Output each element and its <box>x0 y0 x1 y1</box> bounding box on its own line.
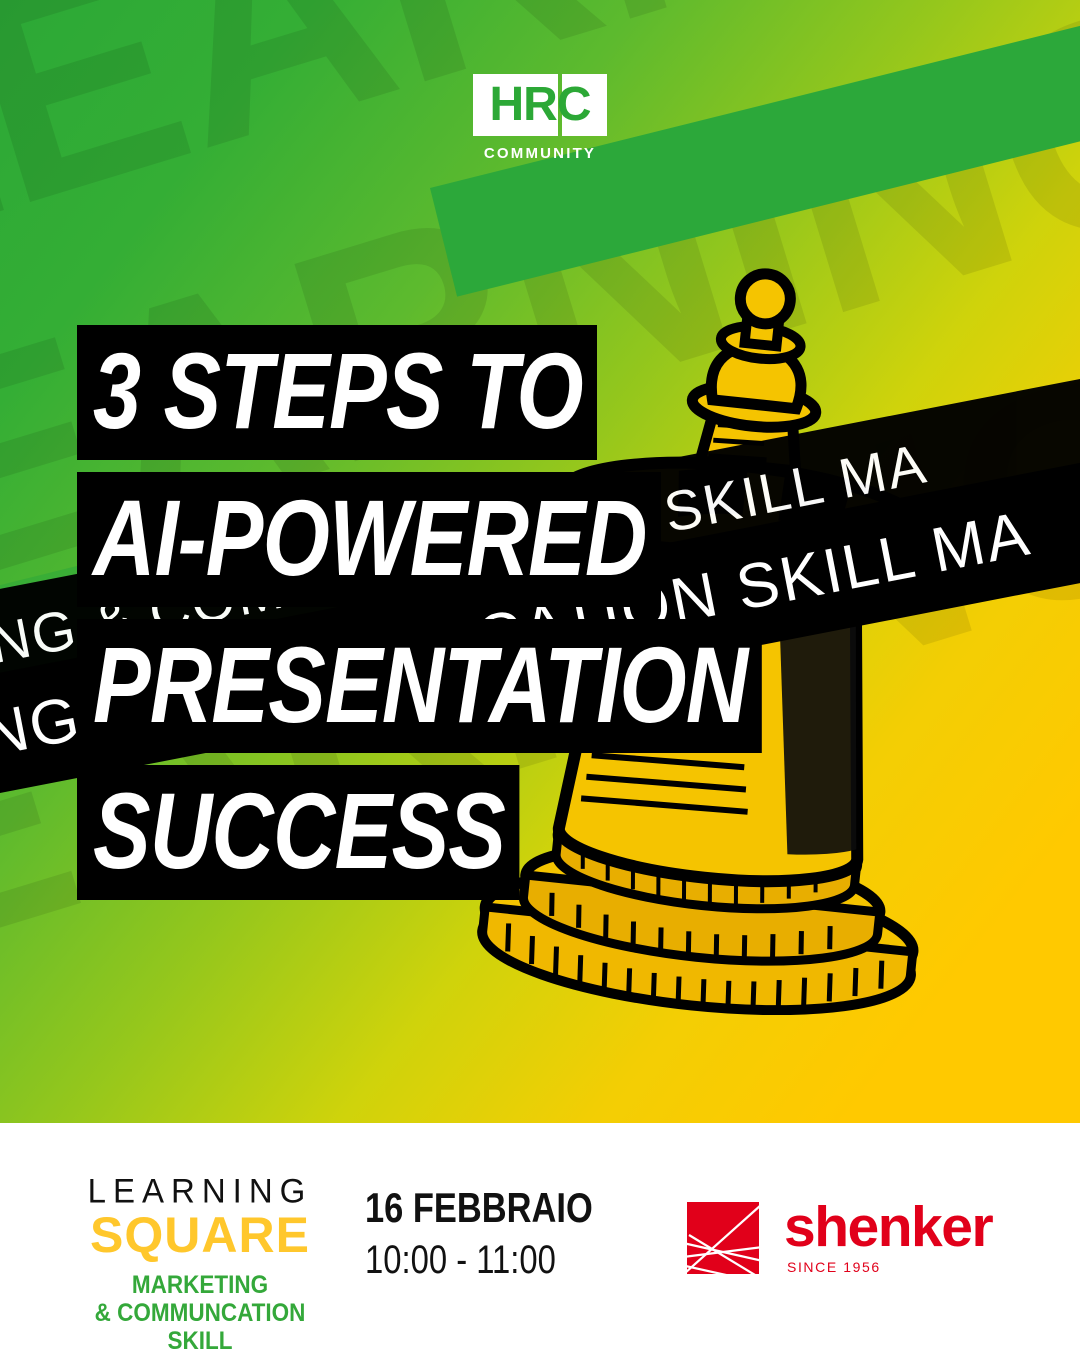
event-datetime: 16 FEBBRAIO 10:00 - 11:00 <box>365 1186 643 1284</box>
headline: 3 STEPS TO AI-POWERED PRESENTATION SUCCE… <box>77 325 933 900</box>
event-date: 16 FEBBRAIO <box>365 1186 593 1231</box>
headline-line-3: PRESENTATION <box>77 619 762 754</box>
headline-line-2: AI-POWERED <box>77 472 661 607</box>
shenker-logo-mark <box>687 1202 759 1274</box>
hrc-logo-mark: HRC <box>473 74 607 136</box>
event-time: 10:00 - 11:00 <box>365 1237 593 1284</box>
hero-section: LEARNING SQ LEARNING SQU LEARNING SQ <box>0 0 1080 1123</box>
hrc-logo-letters: HRC <box>473 74 607 136</box>
learning-square-logo: LEARNING SQUARE MARKETING & COMMUNCATION… <box>80 1174 320 1350</box>
shenker-logo-text: shenker SINCE 1956 <box>784 1202 992 1275</box>
poster: LEARNING SQ LEARNING SQU LEARNING SQ <box>0 0 1080 1350</box>
hrc-logo-subtitle: COMMUNITY <box>473 145 607 162</box>
learning-square-subtitle-line1: MARKETING <box>92 1271 308 1299</box>
hrc-logo: HRC COMMUNITY <box>473 74 607 162</box>
headline-line-4: SUCCESS <box>77 765 520 900</box>
shenker-logo-since: SINCE 1956 <box>787 1259 992 1275</box>
shenker-mark-lines <box>675 1195 771 1281</box>
headline-line-1: 3 STEPS TO <box>77 325 597 460</box>
learning-square-word-square: SQUARE <box>80 1209 320 1262</box>
learning-square-subtitle-line2: & COMMUNCATION SKILL <box>92 1299 308 1350</box>
learning-square-word-learning: LEARNING <box>80 1173 320 1208</box>
shenker-logo: shenker SINCE 1956 <box>687 1202 992 1275</box>
shenker-logo-name: shenker <box>784 1202 992 1252</box>
